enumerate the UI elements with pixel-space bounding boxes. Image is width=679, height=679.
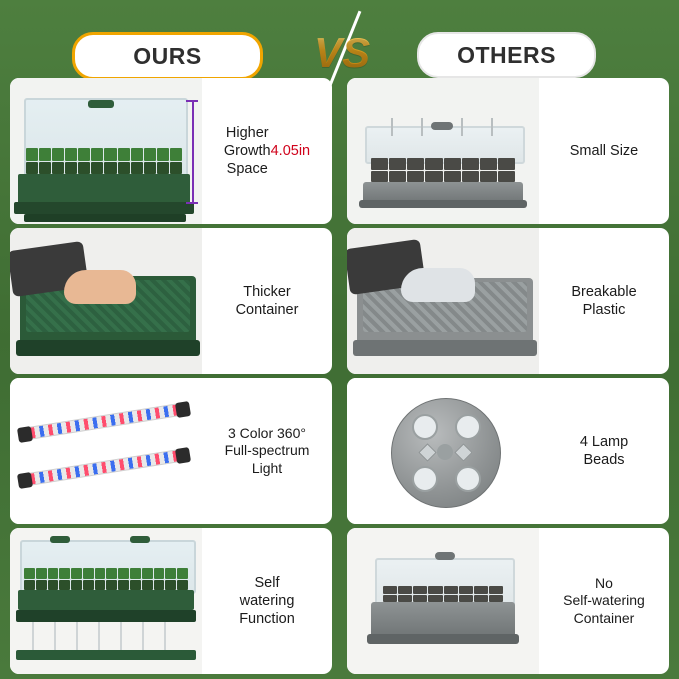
comparison-row-2: Thicker Container Breakable Plastic (0, 228, 679, 374)
others-card-2: Breakable Plastic (347, 228, 669, 374)
growth-space-value: 4.05in (271, 142, 311, 160)
ours-card-1: Higher Growth Space 4.05in (10, 78, 332, 224)
short-grey-seed-tray-image (347, 78, 539, 224)
comparison-row-4: Self watering Function No Self-watering … (0, 528, 679, 674)
plain-grey-dome-tray-image (347, 528, 539, 674)
ours-card-4: Self watering Function (10, 528, 332, 674)
comparison-poster: OURS VS OTHERS (0, 0, 679, 679)
others-caption-1: Small Size (539, 78, 669, 224)
header: OURS VS OTHERS (0, 14, 679, 72)
comparison-row-3: 3 Color 360° Full-spectrum Light 4 Lamp … (0, 378, 679, 524)
ours-caption-1-text: Higher Growth Space (224, 124, 271, 178)
tall-dome-seed-starter-tray-image (10, 78, 202, 224)
others-caption-3: 4 Lamp Beads (539, 378, 669, 524)
gloved-hand-pressing-grey-tray-image (347, 228, 539, 374)
others-label: OTHERS (457, 42, 556, 69)
ours-badge: OURS (72, 32, 263, 80)
ours-caption-1: Higher Growth Space 4.05in (202, 78, 332, 224)
round-grey-lamp-with-four-beads-image (347, 378, 539, 524)
comparison-row-1: Higher Growth Space 4.05in (0, 78, 679, 224)
ours-caption-4: Self watering Function (202, 528, 332, 674)
others-caption-2: Breakable Plastic (539, 228, 669, 374)
two-led-grow-light-bars-image (10, 378, 202, 524)
self-watering-dome-tray-image (10, 528, 202, 674)
others-card-1: Small Size (347, 78, 669, 224)
others-card-4: No Self-watering Container (347, 528, 669, 674)
others-caption-4: No Self-watering Container (539, 528, 669, 674)
ours-card-2: Thicker Container (10, 228, 332, 374)
ours-label: OURS (133, 43, 201, 70)
ours-card-3: 3 Color 360° Full-spectrum Light (10, 378, 332, 524)
hand-pressing-green-tray-image (10, 228, 202, 374)
ours-caption-3: 3 Color 360° Full-spectrum Light (202, 378, 332, 524)
ours-caption-2: Thicker Container (202, 228, 332, 374)
versus-label: VS (314, 29, 370, 77)
others-card-3: 4 Lamp Beads (347, 378, 669, 524)
others-badge: OTHERS (417, 32, 596, 78)
